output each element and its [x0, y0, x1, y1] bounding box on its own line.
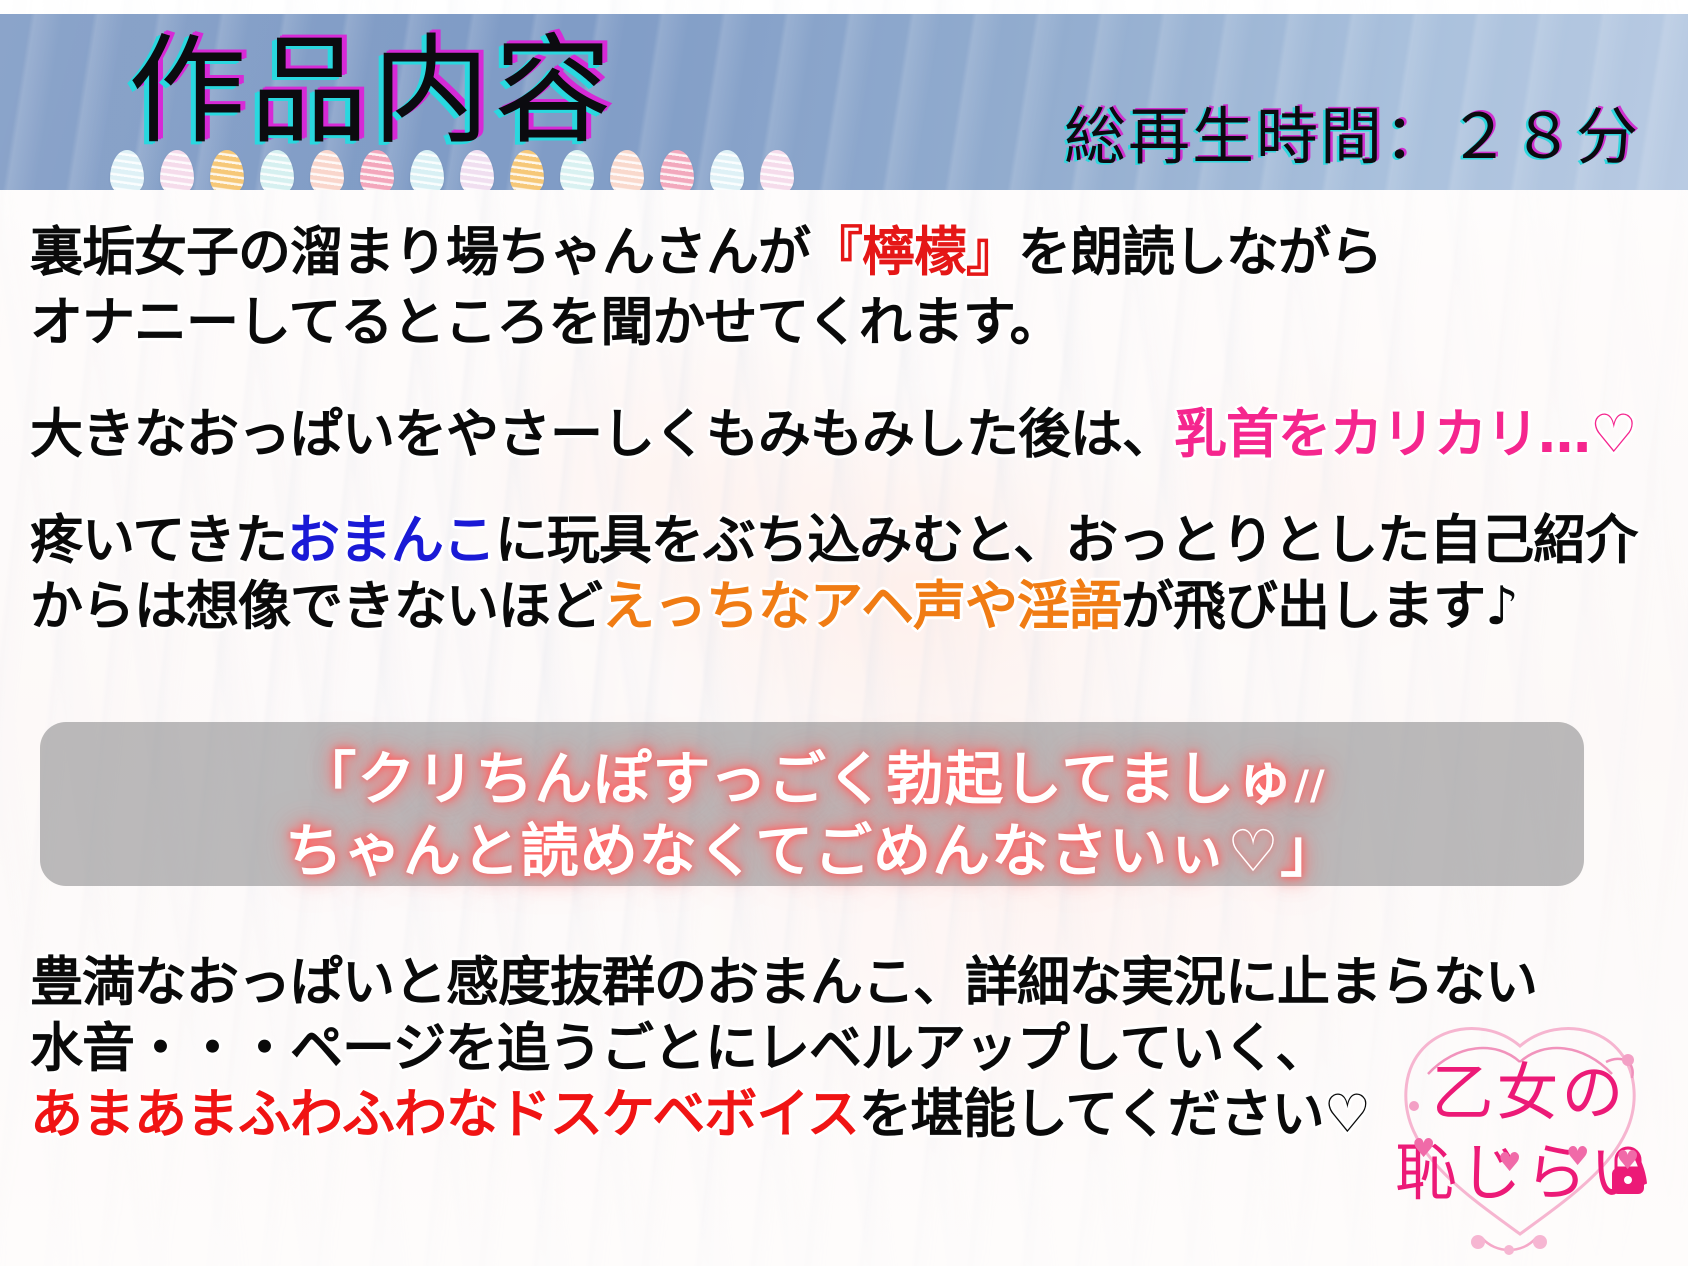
egg-icon: [310, 150, 344, 190]
brand-name-top: 乙女の: [1404, 1062, 1654, 1124]
body-text-3a: 大きなおっぱいをやさーしくもみもみした後は、: [30, 404, 1174, 465]
quote-text-1b: //: [1294, 763, 1325, 809]
heart-icon: ♥: [1616, 1148, 1639, 1174]
header-band: 作品内容 総再生時間：２８分: [0, 14, 1688, 190]
egg-icon: [610, 150, 644, 190]
product-description-banner: 作品内容 総再生時間：２８分 裏垢女子の溜まり場: [0, 0, 1688, 1266]
header-inner: 作品内容 総再生時間：２８分: [0, 14, 1688, 190]
intro-text-a: 裏垢女子の溜まり場ちゃんさんが: [30, 222, 810, 283]
egg-garland-decoration: [110, 150, 794, 190]
egg-icon: [160, 150, 194, 190]
egg-icon: [660, 150, 694, 190]
dosukebe-voice-highlight: あまあまふわふわなドスケベボイス: [30, 1084, 859, 1145]
quote-line-1: 「クリちんぽすっごく勃起してましゅ//: [40, 750, 1584, 808]
ahegoe-highlight: えっちなアヘ声や淫語: [602, 576, 1121, 637]
egg-icon: [210, 150, 244, 190]
body-line-6: 豊満なおっぱいと感度抜群のおまんこ、詳細な実況に止まらない: [30, 950, 1537, 1016]
total-duration-label: 総再生時間：２８分: [1064, 106, 1640, 168]
quote-text-1a: 「クリちんぽすっごく勃起してましゅ: [298, 745, 1294, 813]
intro-line-1: 裏垢女子の溜まり場ちゃんさんが『檸檬』を朗読しながら: [30, 220, 1382, 286]
omanko-highlight: おまんこ: [287, 510, 495, 571]
egg-icon: [510, 150, 544, 190]
body-text-5c: が飛び出します♪: [1121, 576, 1518, 637]
body-line-7: 水音・・・ページを追うごとにレベルアップしていく、: [30, 1016, 1327, 1082]
body-text-8b: を堪能してください♡: [859, 1084, 1370, 1145]
egg-icon: [710, 150, 744, 190]
quote-text-2b: ぃ♡」: [1168, 817, 1339, 885]
heart-icon: ♥: [1566, 1144, 1589, 1170]
nipple-highlight: 乳首をカリカリ…♡: [1174, 404, 1637, 465]
egg-icon: [360, 150, 394, 190]
brand-logo: 乙女の 恥じらい ♥ ♥ ♥ ♥: [1370, 1010, 1670, 1258]
body-line-5: からは想像できないほどえっちなアヘ声や淫語が飛び出します♪: [30, 574, 1518, 640]
heart-icon: ♥: [1412, 1136, 1435, 1162]
quote-text-2a: ちゃんと読めなくてごめんなさい: [285, 817, 1168, 885]
heart-icon: ♥: [1498, 1150, 1521, 1176]
body-line-3: 大きなおっぱいをやさーしくもみもみした後は、乳首をカリカリ…♡: [30, 402, 1637, 468]
body-text-4a: 疼いてきた: [30, 510, 287, 571]
intro-text-c: を朗読しながら: [1018, 222, 1382, 283]
egg-icon: [460, 150, 494, 190]
body-line-8: あまあまふわふわなドスケベボイスを堪能してください♡: [30, 1082, 1370, 1148]
page-title: 作品内容: [128, 32, 616, 150]
work-title-highlight: 『檸檬』: [810, 222, 1018, 283]
egg-icon: [410, 150, 444, 190]
quote-line-2: ちゃんと読めなくてごめんなさいぃ♡」: [40, 822, 1584, 880]
egg-icon: [110, 150, 144, 190]
egg-icon: [260, 150, 294, 190]
intro-line-2: オナニーしてるところを聞かせてくれます。: [30, 290, 1062, 356]
quote-callout-panel: 「クリちんぽすっごく勃起してましゅ// ちゃんと読めなくてごめんなさいぃ♡」: [40, 722, 1584, 886]
body-line-4: 疼いてきたおまんこに玩具をぶち込みむと、おっとりとした自己紹介: [30, 508, 1637, 574]
egg-icon: [560, 150, 594, 190]
body-text-4c: に玩具をぶち込みむと、おっとりとした自己紹介: [495, 510, 1637, 571]
body-text-5a: からは想像できないほど: [30, 576, 602, 637]
egg-icon: [760, 150, 794, 190]
